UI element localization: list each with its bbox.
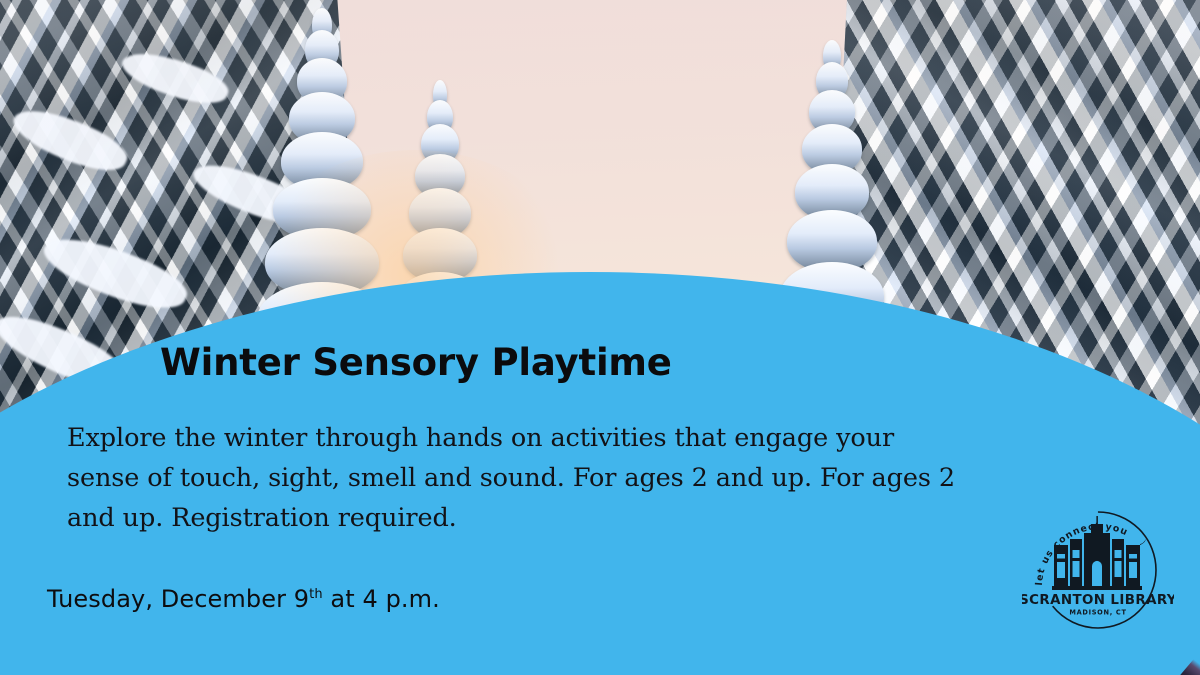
library-building-icon bbox=[1052, 516, 1146, 590]
event-title: Winter Sensory Playtime bbox=[160, 341, 672, 384]
event-datetime: Tuesday, December 9th at 4 p.m. bbox=[47, 585, 440, 613]
event-date-suffix: at 4 p.m. bbox=[323, 585, 440, 613]
scranton-library-logo[interactable]: let us connect you bbox=[1022, 494, 1174, 646]
event-date-prefix: Tuesday, December 9 bbox=[47, 585, 309, 613]
logo-location: MADISON, CT bbox=[1069, 609, 1126, 617]
logo-name: SCRANTON LIBRARY bbox=[1022, 593, 1174, 608]
event-description: Explore the winter through hands on acti… bbox=[67, 418, 967, 538]
event-poster: Winter Sensory Playtime Explore the wint… bbox=[0, 0, 1200, 675]
event-date-ordinal: th bbox=[309, 587, 323, 602]
